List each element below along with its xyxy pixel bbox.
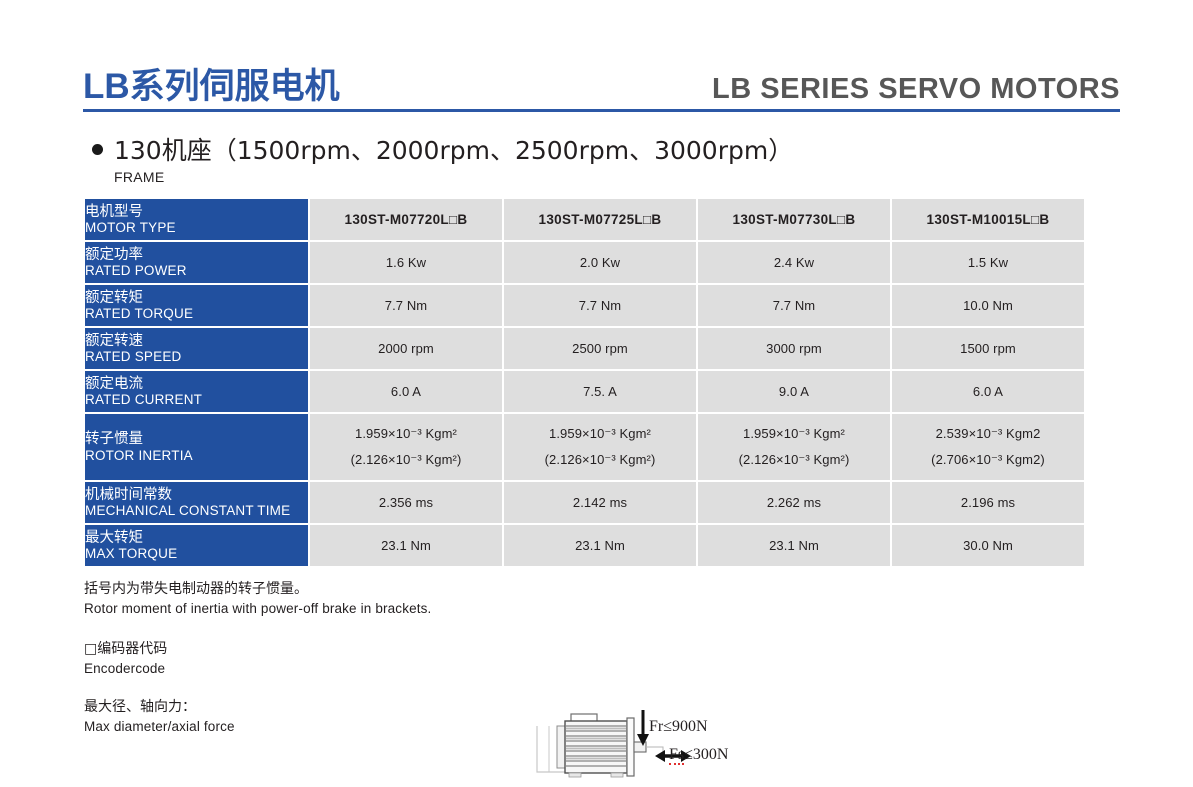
cell-max-torque-1: 23.1 Nm (310, 525, 502, 566)
inertia-value: 1.959×10⁻³ Kgm² (310, 427, 502, 441)
cell-rated-power-1: 1.6 Kw (310, 242, 502, 283)
row-label-en: RATED TORQUE (85, 306, 308, 321)
cell-mech-time-3: 2.262 ms (698, 482, 890, 523)
table-body: 电机型号 MOTOR TYPE 130ST-M07720L□B 130ST-M0… (85, 199, 1084, 566)
row-label-mechanical-constant-time: 机械时间常数 MECHANICAL CONSTANT TIME (85, 482, 308, 523)
row-label-en: MAX TORQUE (85, 546, 308, 561)
table-row: 机械时间常数 MECHANICAL CONSTANT TIME 2.356 ms… (85, 482, 1084, 523)
cell-max-torque-2: 23.1 Nm (504, 525, 696, 566)
cell-rated-power-2: 2.0 Kw (504, 242, 696, 283)
inertia-with-brake: (2.706×10⁻³ Kgm2) (892, 453, 1084, 467)
row-label-rated-current: 额定电流 RATED CURRENT (85, 371, 308, 412)
cell-rated-current-2: 7.5. A (504, 371, 696, 412)
inertia-with-brake: (2.126×10⁻³ Kgm²) (504, 453, 696, 467)
inertia-value: 1.959×10⁻³ Kgm² (504, 427, 696, 441)
row-label-en: RATED SPEED (85, 349, 308, 364)
table-row: 电机型号 MOTOR TYPE 130ST-M07720L□B 130ST-M0… (85, 199, 1084, 240)
axial-force-label: Fs≤300N (669, 746, 728, 764)
inertia-value: 1.959×10⁻³ Kgm² (698, 427, 890, 441)
cell-rotor-inertia-4: 2.539×10⁻³ Kgm2 (2.706×10⁻³ Kgm2) (892, 414, 1084, 480)
cell-rated-speed-1: 2000 rpm (310, 328, 502, 369)
spacer (84, 678, 724, 698)
cell-motor-type-4: 130ST-M10015L□B (892, 199, 1084, 240)
cell-rated-current-1: 6.0 A (310, 371, 502, 412)
cell-rotor-inertia-1: 1.959×10⁻³ Kgm² (2.126×10⁻³ Kgm²) (310, 414, 502, 480)
row-label-cn: 电机型号 (85, 204, 308, 220)
cell-rated-power-4: 1.5 Kw (892, 242, 1084, 283)
table-row: 额定电流 RATED CURRENT 6.0 A 7.5. A 9.0 A 6.… (85, 371, 1084, 412)
axial-force-symbol: Fs (669, 746, 684, 765)
page-title-en: LB SERIES SERVO MOTORS (712, 72, 1120, 109)
cell-motor-type-2: 130ST-M07725L□B (504, 199, 696, 240)
note-brackets-en: Rotor moment of inertia with power-off b… (84, 599, 724, 618)
axial-force-diagram: Fr≤900N Fs≤300N (533, 704, 813, 782)
cell-rated-current-3: 9.0 A (698, 371, 890, 412)
row-label-motor-type: 电机型号 MOTOR TYPE (85, 199, 308, 240)
cell-rated-torque-3: 7.7 Nm (698, 285, 890, 326)
cell-mech-time-2: 2.142 ms (504, 482, 696, 523)
row-label-max-torque: 最大转矩 MAX TORQUE (85, 525, 308, 566)
row-label-en: RATED CURRENT (85, 392, 308, 407)
row-label-cn: 最大转矩 (85, 530, 308, 546)
row-label-en: ROTOR INERTIA (85, 448, 308, 463)
row-label-rated-power: 额定功率 RATED POWER (85, 242, 308, 283)
cell-motor-type-3: 130ST-M07730L□B (698, 199, 890, 240)
note-encoder-cn: □编码器代码 (84, 640, 724, 659)
row-label-cn: 额定转速 (85, 333, 308, 349)
cell-rated-speed-4: 1500 rpm (892, 328, 1084, 369)
row-label-rated-speed: 额定转速 RATED SPEED (85, 328, 308, 369)
row-label-en: MECHANICAL CONSTANT TIME (85, 503, 308, 518)
cell-rated-torque-4: 10.0 Nm (892, 285, 1084, 326)
bullet-dot-icon (92, 144, 103, 155)
row-label-rotor-inertia: 转子惯量 ROTOR INERTIA (85, 414, 308, 480)
note-brackets-cn: 括号内为带失电制动器的转子惯量。 (84, 580, 724, 599)
page-title-cn: LB系列伺服电机 (83, 67, 340, 109)
row-label-cn: 额定功率 (85, 247, 308, 263)
cell-rotor-inertia-2: 1.959×10⁻³ Kgm² (2.126×10⁻³ Kgm²) (504, 414, 696, 480)
cell-motor-type-1: 130ST-M07720L□B (310, 199, 502, 240)
down-arrow-icon (637, 710, 649, 746)
cell-max-torque-3: 23.1 Nm (698, 525, 890, 566)
row-label-cn: 额定转矩 (85, 290, 308, 306)
row-label-en: MOTOR TYPE (85, 220, 308, 235)
inertia-with-brake: (2.126×10⁻³ Kgm²) (310, 453, 502, 467)
cell-rated-torque-1: 7.7 Nm (310, 285, 502, 326)
servo-motor-side-view-icon (533, 704, 813, 782)
cell-rated-speed-3: 3000 rpm (698, 328, 890, 369)
cell-rated-current-4: 6.0 A (892, 371, 1084, 412)
spacer (84, 618, 724, 640)
inertia-with-brake: (2.126×10⁻³ Kgm²) (698, 453, 890, 467)
cell-rotor-inertia-3: 1.959×10⁻³ Kgm² (2.126×10⁻³ Kgm²) (698, 414, 890, 480)
row-label-cn: 机械时间常数 (85, 487, 308, 503)
table-row: 额定转速 RATED SPEED 2000 rpm 2500 rpm 3000 … (85, 328, 1084, 369)
row-label-rated-torque: 额定转矩 RATED TORQUE (85, 285, 308, 326)
cell-mech-time-1: 2.356 ms (310, 482, 502, 523)
table-row: 额定转矩 RATED TORQUE 7.7 Nm 7.7 Nm 7.7 Nm 1… (85, 285, 1084, 326)
inertia-value: 2.539×10⁻³ Kgm2 (892, 427, 1084, 441)
frame-label-en: FRAME (114, 169, 792, 185)
table-row: 额定功率 RATED POWER 1.6 Kw 2.0 Kw 2.4 Kw 1.… (85, 242, 1084, 283)
table-row: 转子惯量 ROTOR INERTIA 1.959×10⁻³ Kgm² (2.12… (85, 414, 1084, 480)
row-label-cn: 额定电流 (85, 376, 308, 392)
note-encoder-en: Encodercode (84, 659, 724, 678)
frame-section: 130机座（1500rpm、2000rpm、2500rpm、3000rpm） F… (92, 131, 792, 185)
row-label-cn: 转子惯量 (85, 431, 308, 447)
table-row: 最大转矩 MAX TORQUE 23.1 Nm 23.1 Nm 23.1 Nm … (85, 525, 1084, 566)
row-label-en: RATED POWER (85, 263, 308, 278)
cell-mech-time-4: 2.196 ms (892, 482, 1084, 523)
cell-max-torque-4: 30.0 Nm (892, 525, 1084, 566)
axial-force-value: ≤300N (684, 746, 728, 763)
cell-rated-speed-2: 2500 rpm (504, 328, 696, 369)
frame-label-cn: 130机座（1500rpm、2000rpm、2500rpm、3000rpm） (114, 131, 793, 167)
cell-rated-torque-2: 7.7 Nm (504, 285, 696, 326)
page-header: LB系列伺服电机 LB SERIES SERVO MOTORS (83, 56, 1120, 112)
cell-rated-power-3: 2.4 Kw (698, 242, 890, 283)
radial-force-label: Fr≤900N (649, 718, 708, 736)
specifications-table: 电机型号 MOTOR TYPE 130ST-M07720L□B 130ST-M0… (83, 197, 1086, 568)
